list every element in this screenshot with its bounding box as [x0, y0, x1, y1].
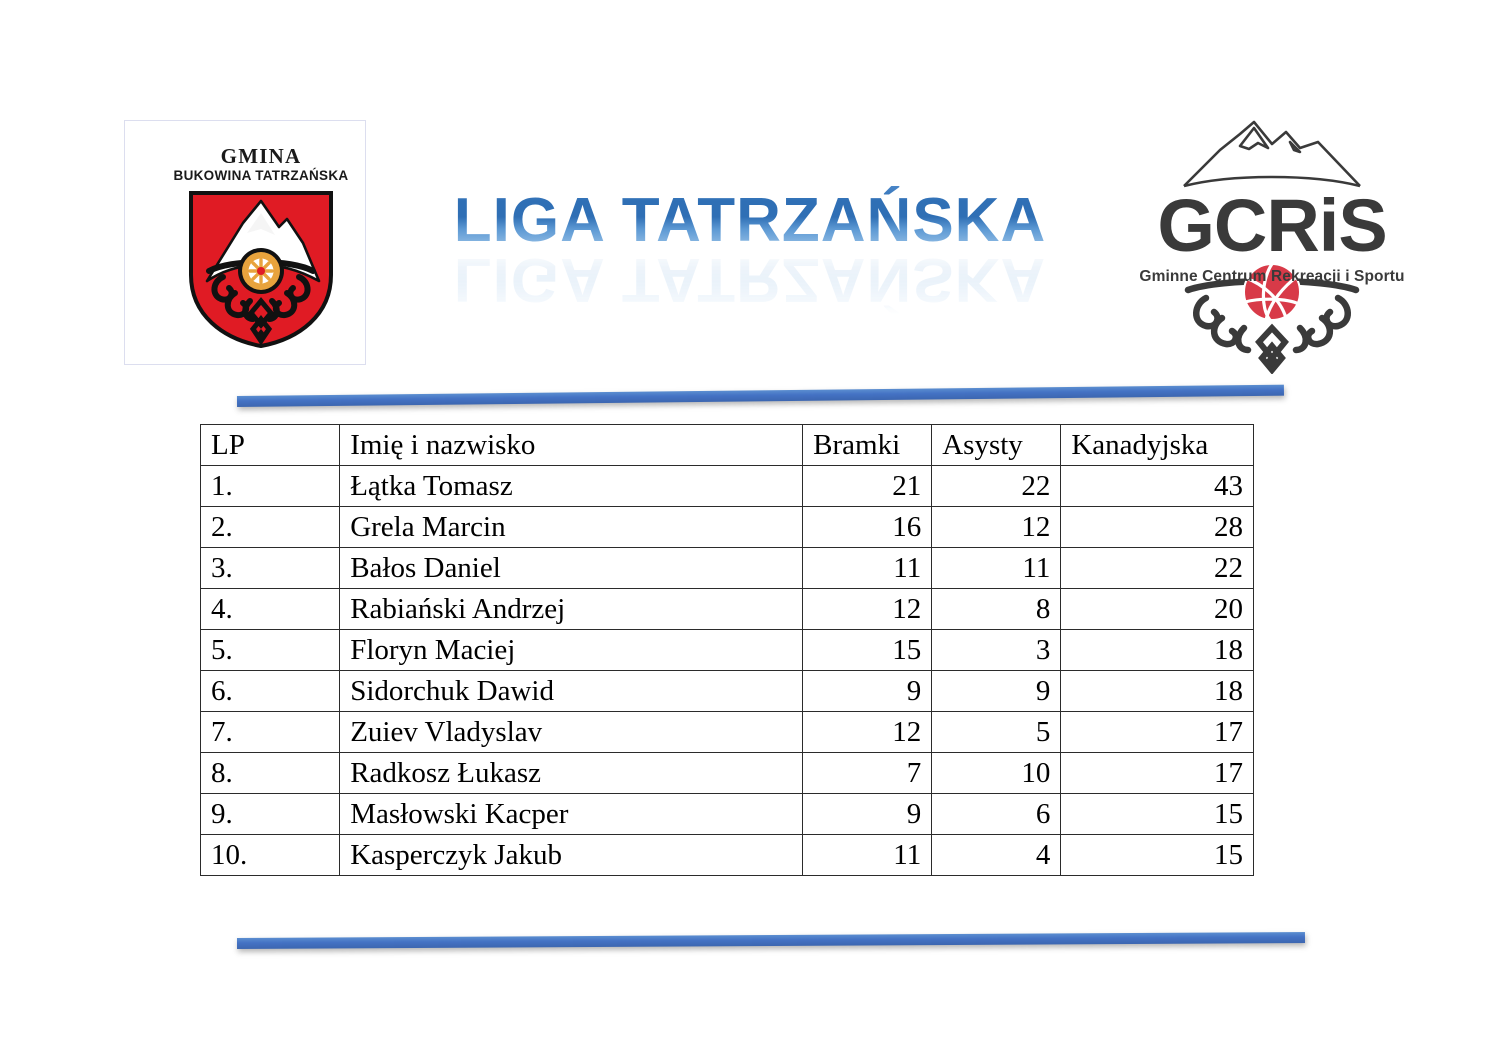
cell-lp: 8.: [201, 753, 340, 794]
cell-bramki: 11: [803, 835, 932, 876]
cell-kanadyjska: 18: [1061, 630, 1254, 671]
cell-bramki: 12: [803, 589, 932, 630]
cell-name: Masłowski Kacper: [340, 794, 803, 835]
cell-name: Radkosz Łukasz: [340, 753, 803, 794]
table-row: 10.Kasperczyk Jakub11415: [201, 835, 1254, 876]
cell-name: Floryn Maciej: [340, 630, 803, 671]
column-header-bramki: Bramki: [803, 425, 932, 466]
gmina-bukowina-tatrzanska-logo: GMINA BUKOWINA TATRZAŃSKA: [161, 145, 361, 360]
player-stats-table: LP Imię i nazwisko Bramki Asysty Kanadyj…: [200, 424, 1254, 876]
cell-lp: 5.: [201, 630, 340, 671]
cell-bramki: 9: [803, 794, 932, 835]
gmina-logo-frame: GMINA BUKOWINA TATRZAŃSKA: [124, 120, 366, 365]
blue-divider-bar-top: [237, 385, 1284, 407]
cell-kanadyjska: 20: [1061, 589, 1254, 630]
cell-asysty: 3: [932, 630, 1061, 671]
cell-lp: 6.: [201, 671, 340, 712]
table-row: 1.Łątka Tomasz212243: [201, 466, 1254, 507]
cell-bramki: 11: [803, 548, 932, 589]
cell-asysty: 4: [932, 835, 1061, 876]
cell-kanadyjska: 15: [1061, 794, 1254, 835]
cell-kanadyjska: 22: [1061, 548, 1254, 589]
table-body: 1.Łątka Tomasz2122432.Grela Marcin161228…: [201, 466, 1254, 876]
cell-name: Kasperczyk Jakub: [340, 835, 803, 876]
cell-bramki: 21: [803, 466, 932, 507]
cell-asysty: 22: [932, 466, 1061, 507]
cell-asysty: 6: [932, 794, 1061, 835]
table-header-row: LP Imię i nazwisko Bramki Asysty Kanadyj…: [201, 425, 1254, 466]
cell-lp: 9.: [201, 794, 340, 835]
cell-name: Łątka Tomasz: [340, 466, 803, 507]
table-row: 8.Radkosz Łukasz71017: [201, 753, 1254, 794]
gmina-logo-line1: GMINA: [161, 145, 361, 167]
cell-asysty: 12: [932, 507, 1061, 548]
cell-asysty: 8: [932, 589, 1061, 630]
cell-kanadyjska: 28: [1061, 507, 1254, 548]
column-header-kanadyjska: Kanadyjska: [1061, 425, 1254, 466]
cell-asysty: 5: [932, 712, 1061, 753]
cell-kanadyjska: 43: [1061, 466, 1254, 507]
cell-asysty: 10: [932, 753, 1061, 794]
cell-lp: 10.: [201, 835, 340, 876]
cell-kanadyjska: 17: [1061, 712, 1254, 753]
cell-kanadyjska: 18: [1061, 671, 1254, 712]
cell-asysty: 11: [932, 548, 1061, 589]
gmina-logo-line2: BUKOWINA TATRZAŃSKA: [161, 167, 361, 184]
cell-name: Bałos Daniel: [340, 548, 803, 589]
table-row: 4.Rabiański Andrzej12820: [201, 589, 1254, 630]
cell-name: Sidorchuk Dawid: [340, 671, 803, 712]
gcris-logo: GCRiS Gminne Centrum Rekreacji i Sportu: [1122, 112, 1422, 374]
cell-bramki: 12: [803, 712, 932, 753]
gmina-logo-text: GMINA BUKOWINA TATRZAŃSKA: [161, 145, 361, 184]
cell-bramki: 7: [803, 753, 932, 794]
cell-asysty: 9: [932, 671, 1061, 712]
gcris-tagline: Gminne Centrum Rekreacji i Sportu: [1122, 268, 1422, 286]
gcris-wordmark: GCRiS: [1122, 188, 1422, 264]
table-row: 3.Bałos Daniel111122: [201, 548, 1254, 589]
cell-lp: 4.: [201, 589, 340, 630]
cell-name: Rabiański Andrzej: [340, 589, 803, 630]
cell-lp: 1.: [201, 466, 340, 507]
cell-name: Zuiev Vladyslav: [340, 712, 803, 753]
cell-lp: 3.: [201, 548, 340, 589]
column-header-lp: LP: [201, 425, 340, 466]
cell-kanadyjska: 15: [1061, 835, 1254, 876]
column-header-name: Imię i nazwisko: [340, 425, 803, 466]
gmina-coat-of-arms-icon: [187, 189, 335, 349]
cell-bramki: 15: [803, 630, 932, 671]
cell-name: Grela Marcin: [340, 507, 803, 548]
column-header-asysty: Asysty: [932, 425, 1061, 466]
table-row: 9.Masłowski Kacper9615: [201, 794, 1254, 835]
cell-kanadyjska: 17: [1061, 753, 1254, 794]
table-row: 2.Grela Marcin161228: [201, 507, 1254, 548]
table-row: 7.Zuiev Vladyslav12517: [201, 712, 1254, 753]
blue-divider-bar-bottom: [237, 932, 1305, 949]
table-row: 5.Floryn Maciej15318: [201, 630, 1254, 671]
cell-bramki: 9: [803, 671, 932, 712]
cell-lp: 2.: [201, 507, 340, 548]
table-row: 6.Sidorchuk Dawid9918: [201, 671, 1254, 712]
cell-bramki: 16: [803, 507, 932, 548]
cell-lp: 7.: [201, 712, 340, 753]
